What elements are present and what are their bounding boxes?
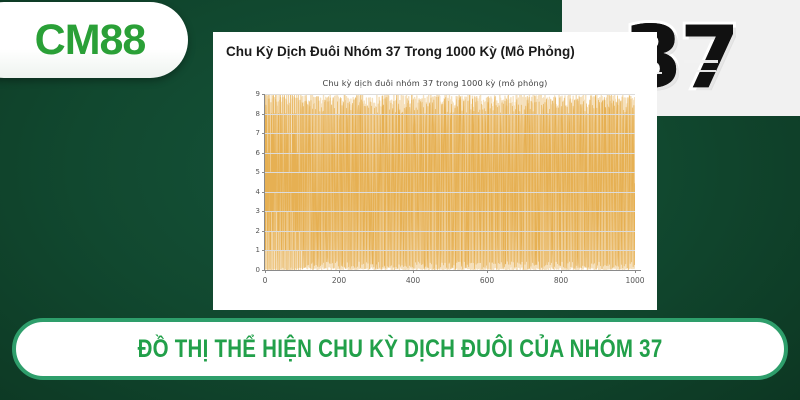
gridline <box>265 211 635 212</box>
y-tick-label: 7 <box>256 129 260 137</box>
y-tick-mark <box>262 114 265 115</box>
y-tick-mark <box>262 250 265 251</box>
y-tick-label: 1 <box>256 246 260 254</box>
gridline <box>265 250 635 251</box>
x-axis-line <box>264 270 641 271</box>
x-tick-mark <box>487 270 488 273</box>
y-tick-mark <box>262 133 265 134</box>
x-tick-label: 400 <box>406 276 420 285</box>
x-tick-label: 600 <box>480 276 494 285</box>
y-tick-label: 3 <box>256 207 260 215</box>
y-tick-label: 9 <box>256 90 260 98</box>
y-tick-label: 4 <box>256 188 260 196</box>
plot-area <box>265 94 635 270</box>
series-canvas <box>265 94 635 270</box>
x-tick-mark <box>635 270 636 273</box>
x-tick-label: 800 <box>554 276 568 285</box>
gridline <box>265 192 635 193</box>
y-tick-mark <box>262 94 265 95</box>
gridline <box>265 231 635 232</box>
card-title: Chu Kỳ Dịch Đuôi Nhóm 37 Trong 1000 Kỳ (… <box>226 44 575 59</box>
y-tick-mark <box>262 153 265 154</box>
chart-figure: Chu kỳ dịch đuôi nhóm 37 trong 1000 kỳ (… <box>219 72 651 304</box>
y-tick-mark <box>262 192 265 193</box>
y-tick-label: 0 <box>256 266 260 274</box>
gridline <box>265 172 635 173</box>
plot-wrap: Đuôi số 0123456789 02004006008001000 <box>265 94 635 270</box>
gridline <box>265 114 635 115</box>
gridline <box>265 133 635 134</box>
cm88-logo: CM88 <box>0 2 188 78</box>
chart-title: Chu kỳ dịch đuôi nhóm 37 trong 1000 kỳ (… <box>219 78 651 88</box>
y-tick-mark <box>262 172 265 173</box>
x-tick-label: 1000 <box>625 276 644 285</box>
screenshot-stage: CM88 37 37 Chu Kỳ Dịch Đuôi Nhóm 37 Tron… <box>0 0 800 400</box>
bottom-banner-text: ĐỒ THỊ THỂ HIỆN CHU KỲ DỊCH ĐUÔI CỦA NHÓ… <box>138 335 663 364</box>
x-tick-mark <box>265 270 266 273</box>
y-tick-label: 5 <box>256 168 260 176</box>
glitch-streak-icon <box>690 70 716 72</box>
y-tick-label: 8 <box>256 110 260 118</box>
glitch-streak-icon <box>684 60 718 63</box>
y-tick-mark <box>262 211 265 212</box>
cm88-logo-text: CM88 <box>9 16 146 65</box>
gridline <box>265 153 635 154</box>
y-axis-line <box>264 94 265 270</box>
y-tick-label: 2 <box>256 227 260 235</box>
y-tick-label: 6 <box>256 149 260 157</box>
x-tick-mark <box>413 270 414 273</box>
bottom-banner: ĐỒ THỊ THỂ HIỆN CHU KỲ DỊCH ĐUÔI CỦA NHÓ… <box>12 318 788 380</box>
x-tick-mark <box>561 270 562 273</box>
gridline <box>265 94 635 95</box>
x-tick-label: 0 <box>263 276 268 285</box>
chart-card: Chu Kỳ Dịch Đuôi Nhóm 37 Trong 1000 Kỳ (… <box>213 32 657 310</box>
x-tick-mark <box>339 270 340 273</box>
y-tick-mark <box>262 231 265 232</box>
x-tick-label: 200 <box>332 276 346 285</box>
